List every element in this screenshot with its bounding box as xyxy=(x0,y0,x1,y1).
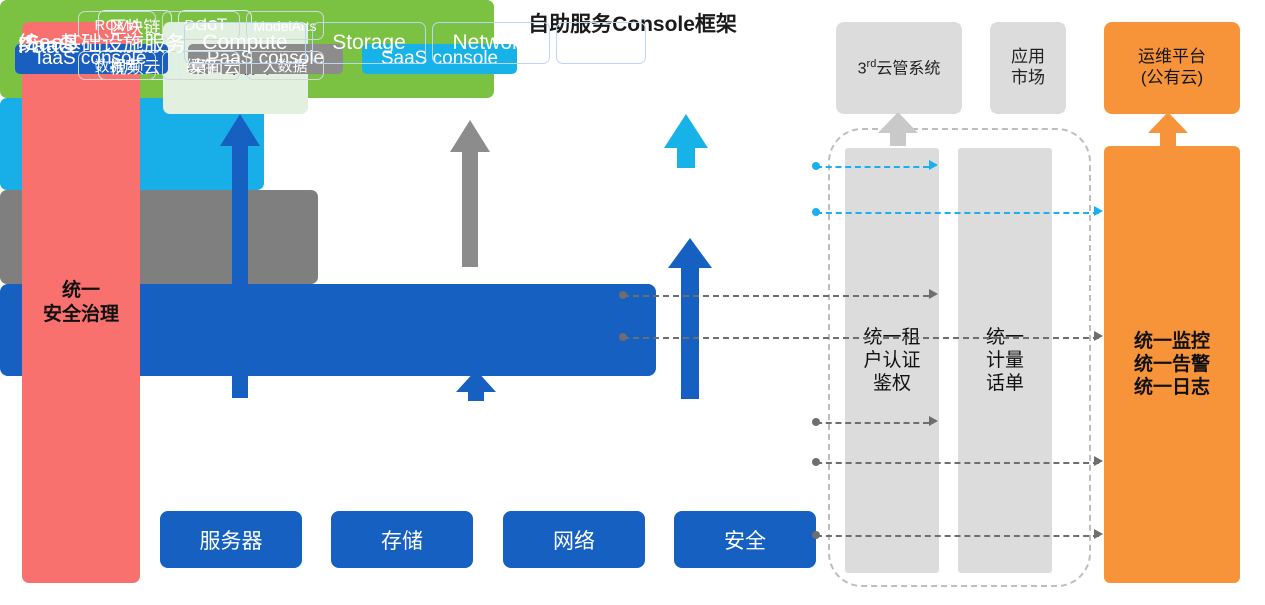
arrow-layer xyxy=(0,0,1265,605)
architecture-diagram: 统一 安全治理 API网关 自助服务Console框架 IaaS console… xyxy=(0,0,1265,605)
arrow-shared-to-third-party xyxy=(878,112,918,146)
arrow-paas-to-console xyxy=(450,120,490,267)
arrow-infra-to-api-gateway xyxy=(220,114,260,398)
connector-line-saas-to-auth xyxy=(816,166,929,168)
connector-dot-paas-ops xyxy=(619,333,627,341)
connector-arrowhead-saas-to-ops xyxy=(1094,206,1103,216)
connector-dot-resources-ops xyxy=(812,531,820,539)
arrow-shared-to-ops-platform xyxy=(1148,112,1188,148)
connector-dot-infra-ops xyxy=(812,458,820,466)
connector-dot-saas-ops xyxy=(812,208,820,216)
connector-arrowhead-paas-to-auth xyxy=(929,289,938,299)
connector-dot-paas-auth xyxy=(619,291,627,299)
arrow-infra-to-paas xyxy=(456,370,496,401)
connector-line-saas-to-ops xyxy=(816,212,1099,214)
connector-line-paas-to-auth xyxy=(623,295,929,297)
connector-arrowhead-saas-to-auth xyxy=(929,160,938,170)
connector-arrowhead-resources-to-ops xyxy=(1094,529,1103,539)
connector-dot-infra-auth xyxy=(812,418,820,426)
connector-line-paas-to-ops xyxy=(623,337,1099,339)
connector-line-infra-to-ops xyxy=(816,462,1099,464)
connector-arrowhead-infra-to-ops xyxy=(1094,456,1103,466)
connector-arrowhead-infra-to-auth xyxy=(929,416,938,426)
connector-line-resources-to-ops xyxy=(816,535,1099,537)
arrow-infra-to-saas xyxy=(668,238,712,399)
arrow-saas-to-saas-console xyxy=(664,114,708,168)
connector-arrowhead-paas-to-ops xyxy=(1094,331,1103,341)
connector-dot-saas-auth xyxy=(812,162,820,170)
connector-line-infra-to-auth xyxy=(816,422,929,424)
